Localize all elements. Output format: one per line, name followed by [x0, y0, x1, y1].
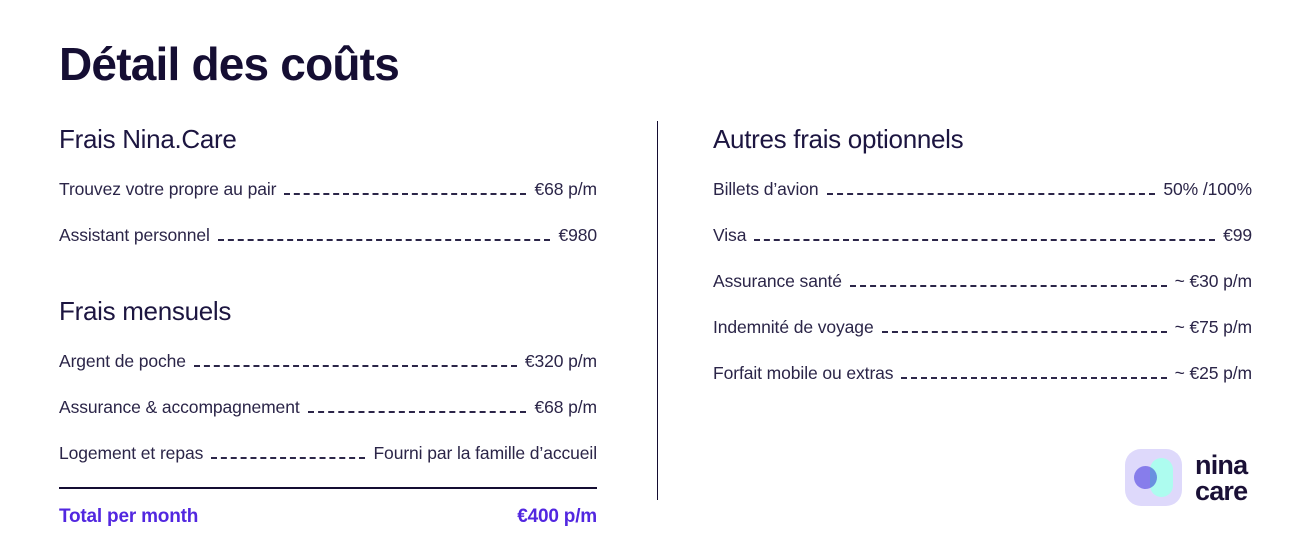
- list-item: Billets d’avion 50% /100%: [713, 166, 1252, 212]
- total-value: €400 p/m: [517, 506, 597, 528]
- row-label: Assurance santé: [713, 258, 842, 304]
- row-label: Billets d’avion: [713, 166, 819, 212]
- row-value: Fourni par la famille d’accueil: [373, 430, 597, 476]
- dotted-leader: [308, 410, 527, 413]
- page-title: Détail des coûts: [59, 34, 399, 94]
- dotted-leader: [901, 376, 1166, 379]
- list-item: Forfait mobile ou extras ~ €25 p/m: [713, 350, 1252, 396]
- logo-wordmark: nina care: [1195, 452, 1247, 504]
- dotted-leader: [284, 192, 526, 195]
- row-value: €320 p/m: [525, 338, 597, 384]
- total-row: Total per month €400 p/m: [59, 506, 597, 528]
- list-item: Logement et repas Fourni par la famille …: [59, 430, 597, 476]
- row-value: €68 p/m: [534, 166, 597, 212]
- section-title-nina-care: Frais Nina.Care: [59, 118, 597, 156]
- logo-circle-shape: [1134, 466, 1157, 489]
- section-title-optional-fees: Autres frais optionnels: [713, 118, 1252, 156]
- logo-wordmark-line-1: nina: [1195, 452, 1247, 478]
- list-item: Assurance santé ~ €30 p/m: [713, 258, 1252, 304]
- nina-care-fee-list: Trouvez votre propre au pair €68 p/m Ass…: [59, 166, 597, 258]
- row-value: €980: [558, 212, 597, 258]
- total-divider: [59, 487, 597, 489]
- dotted-leader: [194, 364, 517, 367]
- dotted-leader: [882, 330, 1167, 333]
- list-item: Argent de poche €320 p/m: [59, 338, 597, 384]
- dotted-leader: [218, 238, 551, 241]
- cost-breakdown-card: Détail des coûts Frais Nina.Care Trouvez…: [0, 0, 1312, 544]
- row-label: Forfait mobile ou extras: [713, 350, 893, 396]
- list-item: Trouvez votre propre au pair €68 p/m: [59, 166, 597, 212]
- row-label: Trouvez votre propre au pair: [59, 166, 276, 212]
- left-column: Frais Nina.Care Trouvez votre propre au …: [59, 118, 597, 528]
- nina-care-logo-mark-icon: [1125, 449, 1182, 506]
- section-title-monthly-fees: Frais mensuels: [59, 258, 597, 328]
- optional-fee-list: Billets d’avion 50% /100% Visa €99 Assur…: [713, 166, 1252, 396]
- row-value: ~ €75 p/m: [1175, 304, 1252, 350]
- row-value: 50% /100%: [1163, 166, 1252, 212]
- monthly-fee-list: Argent de poche €320 p/m Assurance & acc…: [59, 338, 597, 476]
- row-label: Argent de poche: [59, 338, 186, 384]
- row-label: Assistant personnel: [59, 212, 210, 258]
- row-label: Logement et repas: [59, 430, 203, 476]
- list-item: Assurance & accompagnement €68 p/m: [59, 384, 597, 430]
- row-value: ~ €25 p/m: [1175, 350, 1252, 396]
- column-divider: [657, 121, 658, 500]
- row-value: €99: [1223, 212, 1252, 258]
- row-label: Assurance & accompagnement: [59, 384, 300, 430]
- row-label: Indemnité de voyage: [713, 304, 874, 350]
- row-value: €68 p/m: [534, 384, 597, 430]
- total-label: Total per month: [59, 506, 198, 528]
- dotted-leader: [827, 192, 1156, 195]
- list-item: Assistant personnel €980: [59, 212, 597, 258]
- right-column: Autres frais optionnels Billets d’avion …: [713, 118, 1252, 396]
- list-item: Visa €99: [713, 212, 1252, 258]
- dotted-leader: [211, 456, 365, 459]
- row-label: Visa: [713, 212, 746, 258]
- dotted-leader: [754, 238, 1215, 241]
- dotted-leader: [850, 284, 1167, 287]
- nina-care-logo: nina care: [1125, 449, 1247, 506]
- logo-wordmark-line-2: care: [1195, 478, 1247, 504]
- list-item: Indemnité de voyage ~ €75 p/m: [713, 304, 1252, 350]
- row-value: ~ €30 p/m: [1175, 258, 1252, 304]
